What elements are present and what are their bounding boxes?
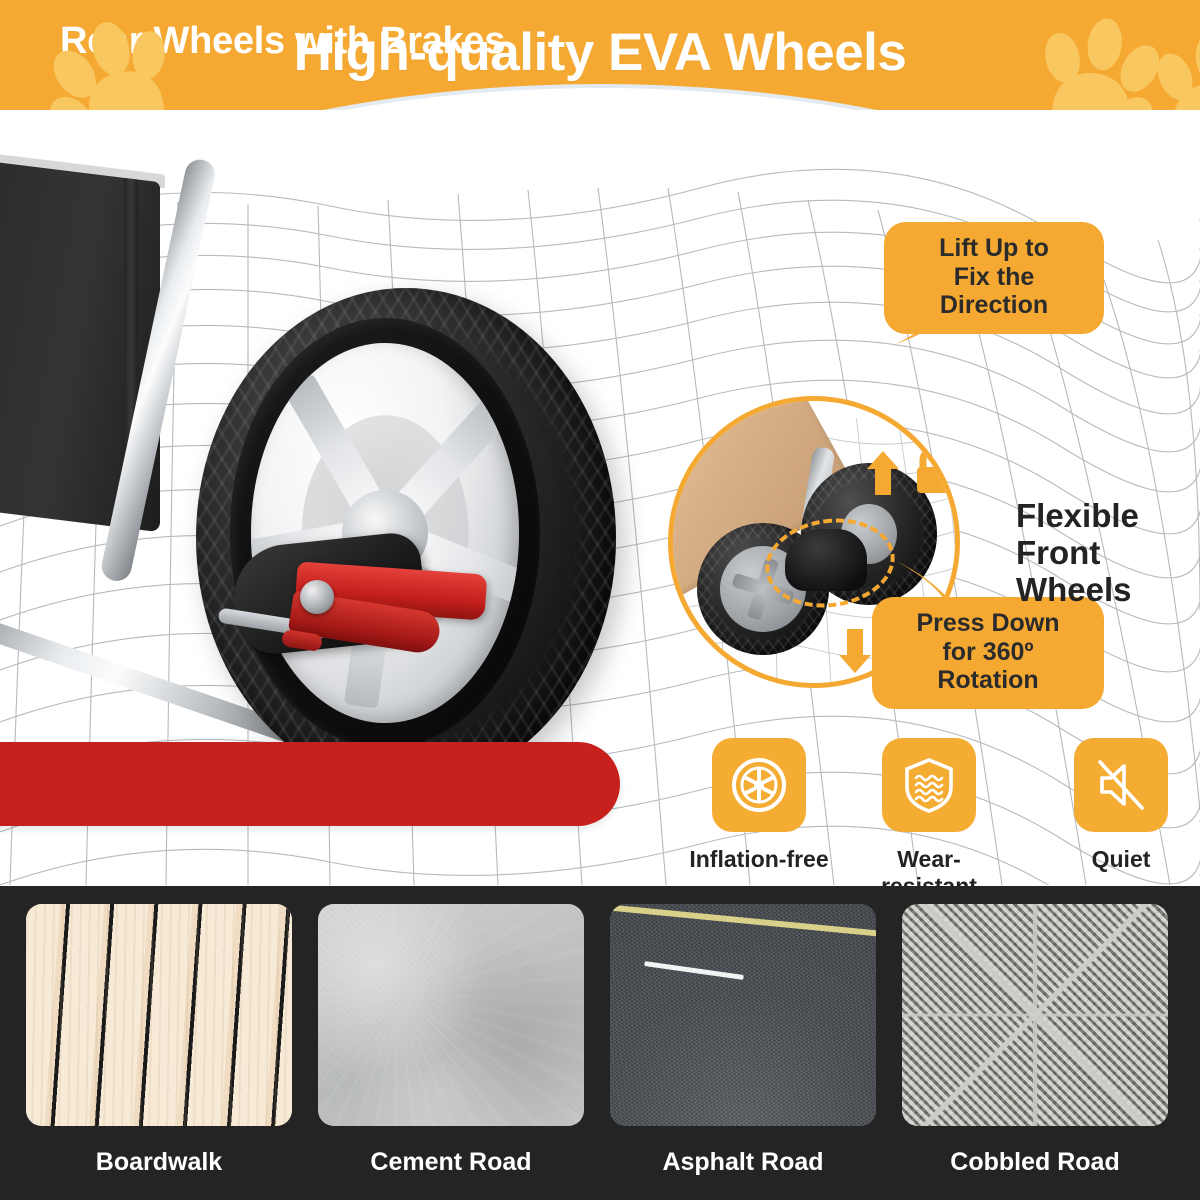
- callout-lift-up[interactable]: Lift Up to Fix the Direction: [884, 222, 1104, 334]
- surface-card-cement[interactable]: Cement Road: [318, 904, 584, 1177]
- cobbled-thumbnail: [902, 904, 1168, 1126]
- concrete-noise-overlay: [318, 904, 584, 1126]
- flexible-front-wheels-label: Flexible Front Wheels: [1016, 498, 1196, 609]
- flexible-line2: Front: [1016, 535, 1196, 572]
- surface-label: Cobbled Road: [902, 1148, 1168, 1177]
- surface-card-boardwalk[interactable]: Boardwalk: [26, 904, 292, 1177]
- feature-tile: [712, 738, 806, 832]
- infographic-canvas: Lift Up to Fix the Direction Press Down …: [0, 0, 1200, 1200]
- shield-waves-icon: [901, 756, 957, 814]
- callout-press-down-line2: for 360º Rotation: [892, 638, 1084, 695]
- cement-thumbnail: [318, 904, 584, 1126]
- lock-up-group: [861, 443, 960, 501]
- padlock-closed-icon: [917, 450, 949, 493]
- callout-lift-up-line1: Lift Up to: [904, 234, 1084, 263]
- boardwalk-thumbnail: [26, 904, 292, 1126]
- callout-press-down[interactable]: Press Down for 360º Rotation: [872, 597, 1104, 709]
- surface-types-strip: Boardwalk Cement Road Asphalt Road: [0, 886, 1200, 1200]
- brake-pivot-stud: [300, 580, 334, 614]
- feature-label: Inflation-free: [680, 846, 838, 873]
- feature-inflation-free[interactable]: Inflation-free: [680, 738, 838, 873]
- feature-quiet[interactable]: Quiet: [1042, 738, 1200, 873]
- callout-lift-up-line2: Fix the Direction: [904, 263, 1084, 320]
- page-title: High-quality EVA Wheels: [0, 22, 1200, 83]
- feature-icon-row: Inflation-free Wear-resistant: [690, 738, 1190, 876]
- asphalt-thumbnail: [610, 904, 876, 1126]
- flexible-line1: Flexible: [1016, 498, 1196, 535]
- speaker-muted-icon: [1092, 756, 1150, 814]
- cobblestone-seam-lines: [902, 904, 1168, 1126]
- surface-card-cobbled[interactable]: Cobbled Road: [902, 904, 1168, 1177]
- surface-card-asphalt[interactable]: Asphalt Road: [610, 904, 876, 1177]
- tire-wheel-icon: [730, 756, 788, 814]
- surface-label: Asphalt Road: [610, 1148, 876, 1177]
- arrow-down-icon: [839, 629, 871, 673]
- callout-press-down-line1: Press Down: [892, 609, 1084, 638]
- flexible-line3: Wheels: [1016, 572, 1196, 609]
- wood-grain-overlay: [26, 904, 292, 1126]
- rear-wheels-banner: [0, 742, 620, 826]
- feature-tile: [882, 738, 976, 832]
- arrow-up-icon: [867, 451, 899, 495]
- asphalt-grain-overlay: [610, 904, 876, 1126]
- feature-wear-resistant[interactable]: Wear-resistant: [850, 738, 1008, 900]
- surface-label: Cement Road: [318, 1148, 584, 1177]
- surface-label: Boardwalk: [26, 1148, 292, 1177]
- feature-label: Quiet: [1042, 846, 1200, 873]
- feature-tile: [1074, 738, 1168, 832]
